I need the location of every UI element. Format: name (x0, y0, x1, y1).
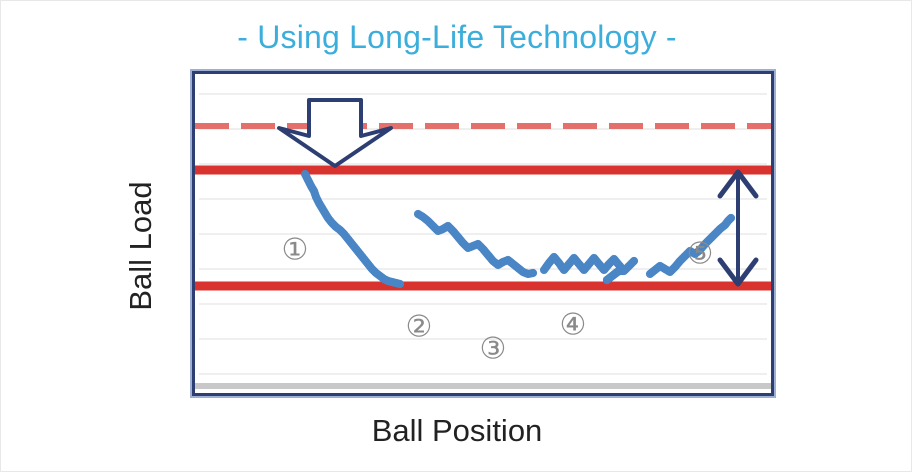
callout-2: ② (406, 310, 433, 345)
scatter-series-group (301, 170, 735, 288)
callouts-group: ①②③④⑤ (282, 233, 714, 367)
callout-3: ③ (480, 332, 507, 367)
callout-5: ⑤ (687, 237, 714, 272)
scatter-dot (727, 214, 735, 222)
callout-1: ① (282, 233, 309, 268)
x-axis-label: Ball Position (1, 413, 912, 449)
plot-frame: ①②③④⑤ (192, 71, 774, 396)
y-axis-label: Ball Load (119, 151, 163, 341)
page-title: - Using Long-Life Technology - (1, 19, 912, 56)
load-reduction-arrow (279, 100, 391, 166)
plot-area: ①②③④⑤ (195, 74, 771, 393)
callout-4: ④ (560, 308, 587, 343)
scatter-dot (396, 280, 404, 288)
segment-2-descending (414, 210, 537, 278)
scatter-dot (618, 266, 626, 274)
scatter-plot-svg: ①②③④⑤ (195, 74, 771, 393)
chart-page: - Using Long-Life Technology - Ball Load… (0, 0, 912, 472)
segment-1-descending (301, 170, 404, 288)
scatter-dot (529, 269, 537, 277)
scatter-dot (630, 257, 638, 265)
